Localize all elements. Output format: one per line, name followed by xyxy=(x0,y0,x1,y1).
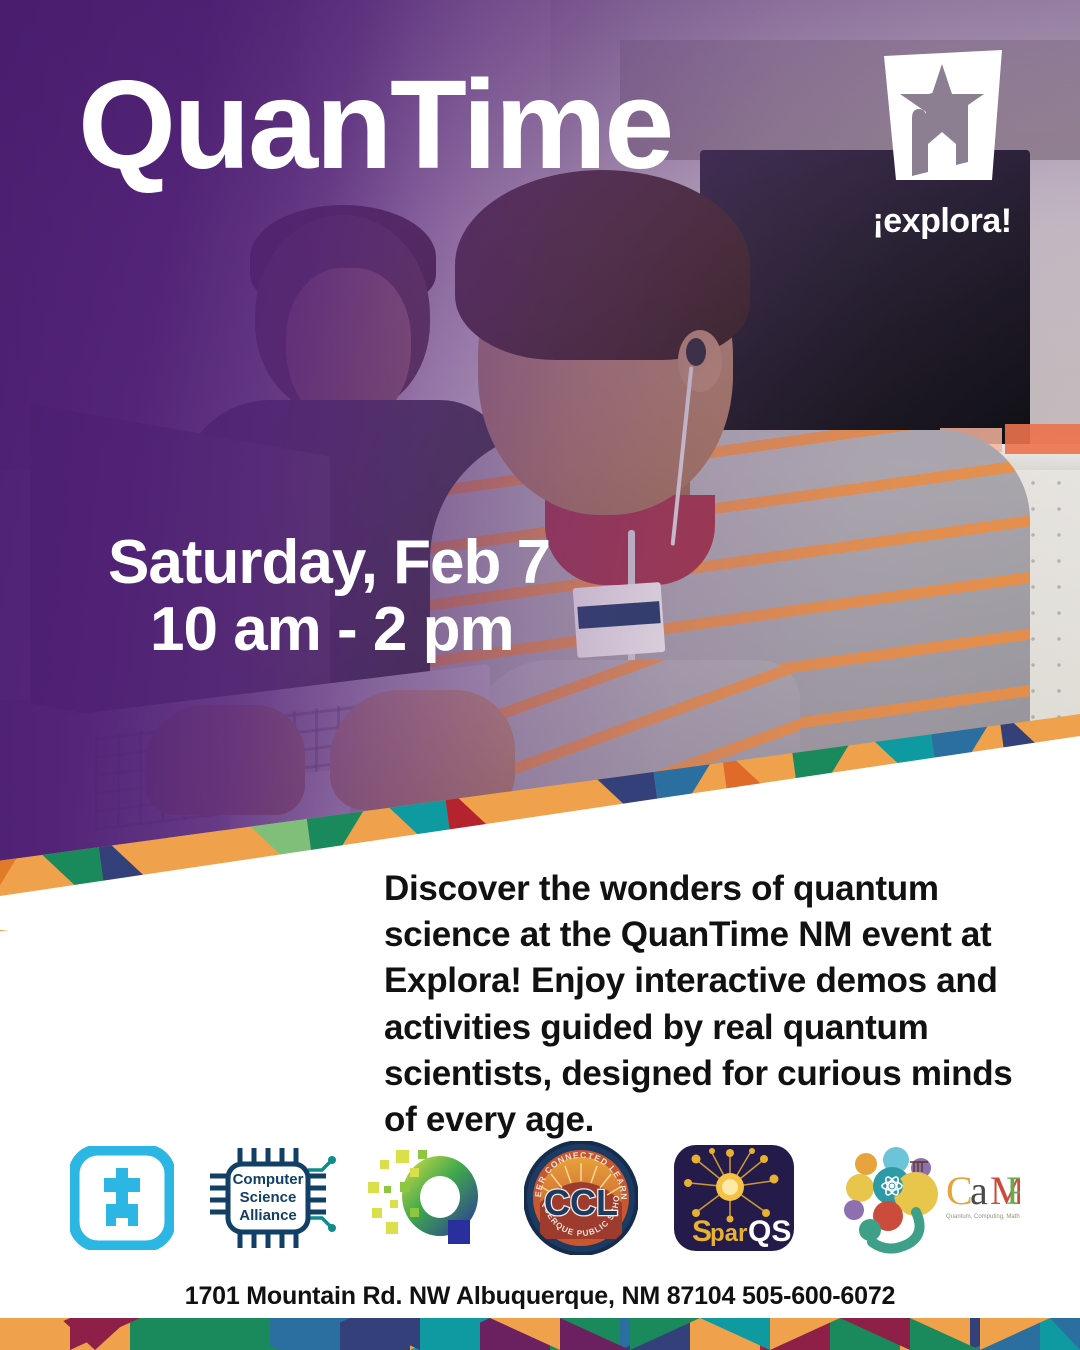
sparqs-part3: QS xyxy=(748,1215,791,1248)
ccl-center-text: CCL xyxy=(544,1182,618,1223)
camp-letter-c: C xyxy=(946,1168,973,1213)
poster: QuanTime ¡explora! Saturday, Feb 7 10 am… xyxy=(0,0,1080,1350)
camp-logo: C a M P Quantum, Computing, Mathematics … xyxy=(830,1142,1020,1254)
bottom-chevron-band xyxy=(0,1318,1080,1350)
csa-line2: Science xyxy=(240,1189,297,1206)
explora-figure-logo xyxy=(70,1146,174,1250)
csa-line3: Alliance xyxy=(239,1207,297,1224)
camp-bubbles-icon: C a M P Quantum, Computing, Mathematics … xyxy=(830,1142,1020,1254)
ccl-aps-logo: CAREER CONNECTED LEARNING ALBUQUERQUE PU… xyxy=(524,1141,638,1255)
venue-address: 1701 Mountain Rd. NW Albuquerque, NM 871… xyxy=(0,1282,1080,1311)
camp-letter-p: P xyxy=(1006,1168,1020,1213)
sparqs-part1: S xyxy=(692,1215,712,1248)
camp-letter-a: a xyxy=(970,1168,988,1213)
event-description: Discover the wonders of quantum science … xyxy=(384,866,1024,1143)
explora-wordmark: ¡explora! xyxy=(862,202,1022,241)
explora-logo: ¡explora! xyxy=(862,48,1022,241)
sponsor-logo-row: Computer Science Alliance xyxy=(70,1135,1020,1260)
quantime-pixel-q-icon xyxy=(366,1142,494,1254)
csa-line1: Computer xyxy=(233,1171,304,1188)
ccl-badge-icon: CAREER CONNECTED LEARNING ALBUQUERQUE PU… xyxy=(524,1141,638,1255)
sparqs-logo: S par QS xyxy=(668,1139,800,1257)
explora-figure-icon xyxy=(70,1146,174,1250)
event-date: Saturday, Feb 7 xyxy=(108,528,550,597)
sparqs-burst-icon: S par QS xyxy=(668,1139,800,1257)
explora-hands-star-icon xyxy=(872,48,1012,198)
quantime-q-logo xyxy=(366,1142,494,1254)
page-title: QuanTime xyxy=(78,62,672,188)
csa-chip-icon: Computer Science Alliance xyxy=(204,1142,336,1254)
camp-tagline: Quantum, Computing, Mathematics & Physic… xyxy=(946,1214,1020,1220)
computer-science-alliance-logo: Computer Science Alliance xyxy=(204,1142,336,1254)
event-datetime: Saturday, Feb 7 10 am - 2 pm xyxy=(108,530,550,664)
event-time: 10 am - 2 pm xyxy=(150,597,550,664)
sparqs-part2: par xyxy=(710,1220,747,1247)
